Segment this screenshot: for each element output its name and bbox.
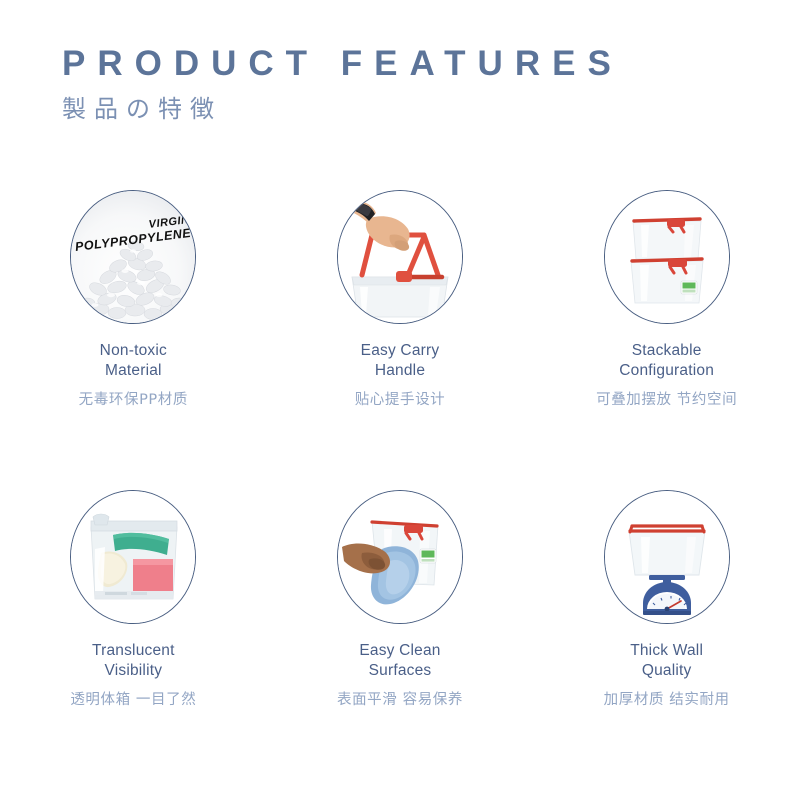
feature-title-en-line1: Easy Carry (355, 341, 446, 361)
feature-title-en-line1: Translucent (70, 641, 196, 661)
page-header: PRODUCT FEATURES 製品の特徴 (62, 46, 623, 124)
stacked-boxes-icon (605, 191, 729, 323)
feature-title-en-line2: Configuration (596, 361, 737, 381)
feature-card-non-toxic-material: VIRGIN POLYPROPYLENE Non-toxic Material … (0, 190, 267, 490)
feature-card-translucent-visibility: Translucent Visibility 透明体箱 一目了然 (0, 490, 267, 790)
feature-title-cn: 贴心提手设计 (355, 388, 446, 409)
feature-title-en: Stackable Configuration (596, 341, 737, 381)
feature-card-easy-clean-surfaces: Easy Clean Surfaces 表面平滑 容易保养 (267, 490, 534, 790)
feature-title-cn: 可叠加摆放 节约空间 (596, 388, 737, 409)
feature-card-stackable-configuration: Stackable Configuration 可叠加摆放 节约空间 (533, 190, 800, 490)
feature-title-en-line2: Quality (604, 661, 730, 681)
feature-icon-circle (337, 490, 463, 624)
feature-title-en-line2: Visibility (70, 661, 196, 681)
feature-title-en-line2: Surfaces (337, 661, 463, 681)
feature-title-en: Easy Carry Handle (355, 341, 446, 381)
feature-title-en-line1: Stackable (596, 341, 737, 361)
feature-title-en: Easy Clean Surfaces (337, 641, 463, 681)
feature-card-thick-wall-quality: Thick Wall Quality 加厚材质 结实耐用 (533, 490, 800, 790)
page-title: PRODUCT FEATURES (62, 46, 623, 83)
translucent-box-contents-icon (71, 491, 195, 623)
feature-icon-circle (604, 490, 730, 624)
feature-icon-circle: VIRGIN POLYPROPYLENE (70, 190, 196, 324)
feature-caption: Translucent Visibility 透明体箱 一目了然 (70, 641, 196, 709)
feature-title-en: Non-toxic Material (79, 341, 188, 381)
feature-title-cn: 表面平滑 容易保养 (337, 688, 463, 709)
feature-icon-circle (70, 490, 196, 624)
feature-caption: Stackable Configuration 可叠加摆放 节约空间 (596, 341, 737, 409)
hand-carrying-handle-icon (338, 191, 462, 323)
page-subtitle-japanese: 製品の特徴 (62, 89, 623, 124)
feature-title-en-line2: Handle (355, 361, 446, 381)
hand-wiping-cloth-icon (338, 491, 462, 623)
feature-title-en: Translucent Visibility (70, 641, 196, 681)
feature-icon-circle (604, 190, 730, 324)
feature-title-en-line2: Material (79, 361, 188, 381)
feature-title-en-line1: Non-toxic (79, 341, 188, 361)
feature-caption: Thick Wall Quality 加厚材质 结实耐用 (604, 641, 730, 709)
product-features-page: PRODUCT FEATURES 製品の特徴 (0, 0, 800, 800)
feature-icon-circle (337, 190, 463, 324)
feature-card-easy-carry-handle: Easy Carry Handle 贴心提手设计 (267, 190, 534, 490)
feature-title-cn: 加厚材质 结实耐用 (604, 688, 730, 709)
feature-title-en-line1: Thick Wall (604, 641, 730, 661)
feature-title-cn: 无毒环保PP材质 (79, 388, 188, 409)
feature-caption: Easy Carry Handle 贴心提手设计 (355, 341, 446, 409)
feature-grid: VIRGIN POLYPROPYLENE Non-toxic Material … (0, 190, 800, 790)
box-on-weighing-scale-icon (605, 491, 729, 623)
feature-caption: Non-toxic Material 无毒环保PP材质 (79, 341, 188, 409)
feature-caption: Easy Clean Surfaces 表面平滑 容易保养 (337, 641, 463, 709)
feature-title-en: Thick Wall Quality (604, 641, 730, 681)
feature-title-en-line1: Easy Clean (337, 641, 463, 661)
feature-title-cn: 透明体箱 一目了然 (70, 688, 196, 709)
plastic-pellets-icon (71, 191, 195, 323)
